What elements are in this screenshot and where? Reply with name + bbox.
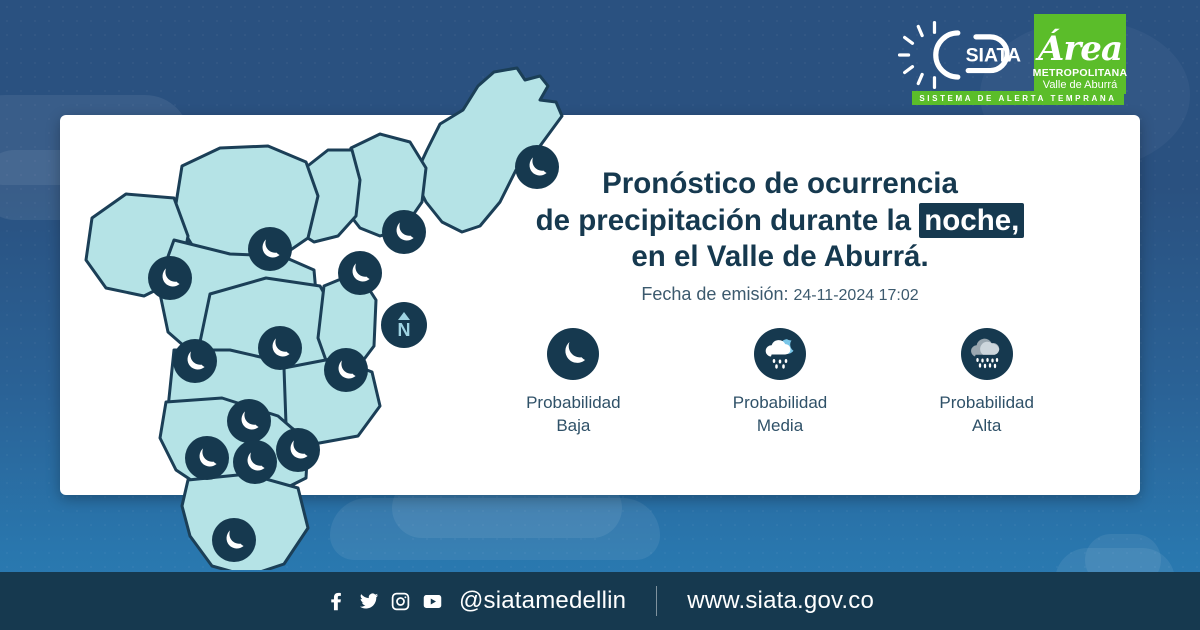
marker-4	[338, 251, 382, 295]
instagram-icon[interactable]	[390, 591, 411, 612]
social-links	[326, 591, 443, 612]
tagline-bar: SISTEMA DE ALERTA TEMPRANA	[912, 91, 1124, 105]
legend-label-baja: Probabilidad Baja	[526, 392, 621, 438]
cloud-moon-rain-icon	[754, 328, 806, 380]
title-highlight-noche: noche,	[919, 203, 1024, 238]
footer-divider	[656, 586, 657, 616]
title-line-3: en el Valle de Aburrá.	[470, 239, 1090, 276]
area-script-text: Área	[1038, 32, 1122, 66]
page-title: Pronóstico de ocurrencia de precipitació…	[470, 166, 1090, 276]
siata-logo: SIATA	[898, 20, 1028, 90]
legend-label-alta: Probabilidad Alta	[939, 392, 1034, 438]
area-metropolitana-logo: Área METROPOLITANA Valle de Aburrá	[1034, 14, 1126, 94]
svg-text:SIATA: SIATA	[966, 44, 1021, 66]
valle-de-aburra-map: N	[70, 50, 570, 570]
legend-item-alta: Probabilidad Alta	[883, 328, 1090, 438]
probability-legend: Probabilidad Baja Probabilidad Media	[470, 328, 1090, 438]
legend-item-media: Probabilidad Media	[677, 328, 884, 438]
twitter-icon[interactable]	[358, 591, 379, 612]
compass-north-icon: N	[381, 302, 427, 348]
legend-label-media-line2: Media	[733, 415, 828, 438]
title-line-2: de precipitación durante la noche,	[470, 203, 1090, 240]
cloud-heavy-rain-icon	[961, 328, 1013, 380]
legend-label-media: Probabilidad Media	[733, 392, 828, 438]
marker-12	[233, 440, 277, 484]
legend-label-media-line1: Probabilidad	[733, 392, 828, 415]
marker-6	[258, 326, 302, 370]
footer-bar: @siatamedellin www.siata.gov.co	[0, 572, 1200, 630]
marker-3	[248, 227, 292, 271]
emission-date: Fecha de emisión:24-11-2024 17:02	[470, 284, 1090, 305]
legend-label-baja-line2: Baja	[526, 415, 621, 438]
legend-label-alta-line2: Alta	[939, 415, 1034, 438]
marker-7	[173, 339, 217, 383]
marker-9	[227, 399, 271, 443]
legend-label-alta-line1: Probabilidad	[939, 392, 1034, 415]
youtube-icon[interactable]	[422, 591, 443, 612]
emission-date-value: 24-11-2024 17:02	[793, 287, 918, 304]
area-metropolitana-line1: METROPOLITANA	[1033, 68, 1128, 79]
title-line-1: Pronóstico de ocurrencia	[470, 166, 1090, 203]
tagline-text: SISTEMA DE ALERTA TEMPRANA	[919, 94, 1116, 103]
moon-icon	[547, 328, 599, 380]
marker-13	[212, 518, 256, 562]
area-metropolitana-line2: Valle de Aburrá	[1043, 79, 1117, 91]
social-handle[interactable]: @siatamedellin	[459, 587, 626, 615]
emission-date-label: Fecha de emisión:	[641, 284, 788, 304]
title-line-2-text: de precipitación durante la	[536, 204, 911, 237]
infographic-canvas: SIATA Área METROPOLITANA Valle de Aburrá…	[0, 0, 1200, 630]
marker-5	[148, 256, 192, 300]
compass-arrow-icon	[398, 312, 410, 320]
compass-north-label: N	[398, 321, 411, 339]
legend-item-baja: Probabilidad Baja	[470, 328, 677, 438]
facebook-icon[interactable]	[326, 591, 347, 612]
website-url[interactable]: www.siata.gov.co	[687, 587, 874, 615]
marker-10	[276, 428, 320, 472]
marker-11	[185, 436, 229, 480]
legend-label-baja-line1: Probabilidad	[526, 392, 621, 415]
marker-8	[324, 348, 368, 392]
marker-2	[382, 210, 426, 254]
